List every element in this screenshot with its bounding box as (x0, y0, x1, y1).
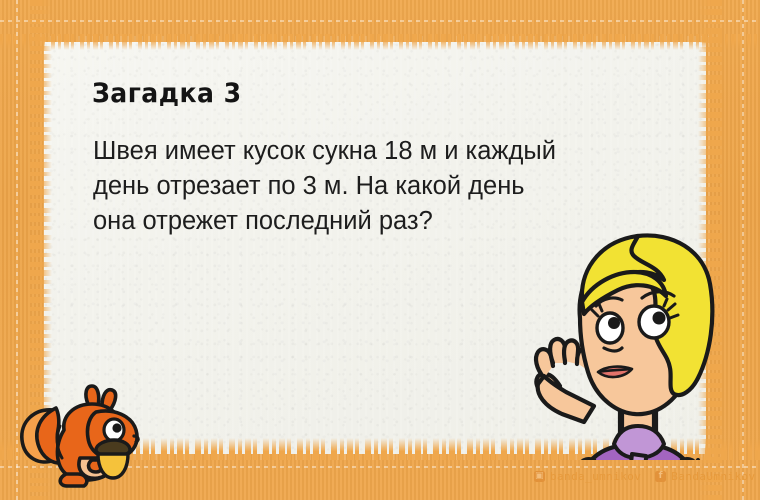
riddle-card: Загадка 3 Швея имеет кусок сукна 18 м и … (0, 0, 760, 500)
squirrel-with-acorn-illustration (10, 382, 145, 490)
riddle-line-1: Швея имеет кусок сукна 18 м и каждый (93, 134, 693, 169)
instagram-handle: banda_umnikov (550, 470, 641, 483)
watermark-instagram[interactable]: ▣ banda_umnikov (534, 470, 641, 483)
riddle-line-2: день отрезает по 3 м. На какой день (93, 169, 693, 204)
watermark-facebook[interactable]: f BandaUmnikov (655, 470, 755, 483)
watermark: ▣ banda_umnikov f BandaUmnikov (534, 470, 756, 483)
blonde-woman-waving-illustration (522, 222, 752, 460)
facebook-handle: BandaUmnikov (671, 470, 755, 483)
facebook-icon: f (655, 471, 666, 482)
instagram-icon: ▣ (534, 471, 545, 482)
page-title: Загадка 3 (92, 78, 242, 109)
border-stitch-top (0, 20, 760, 22)
